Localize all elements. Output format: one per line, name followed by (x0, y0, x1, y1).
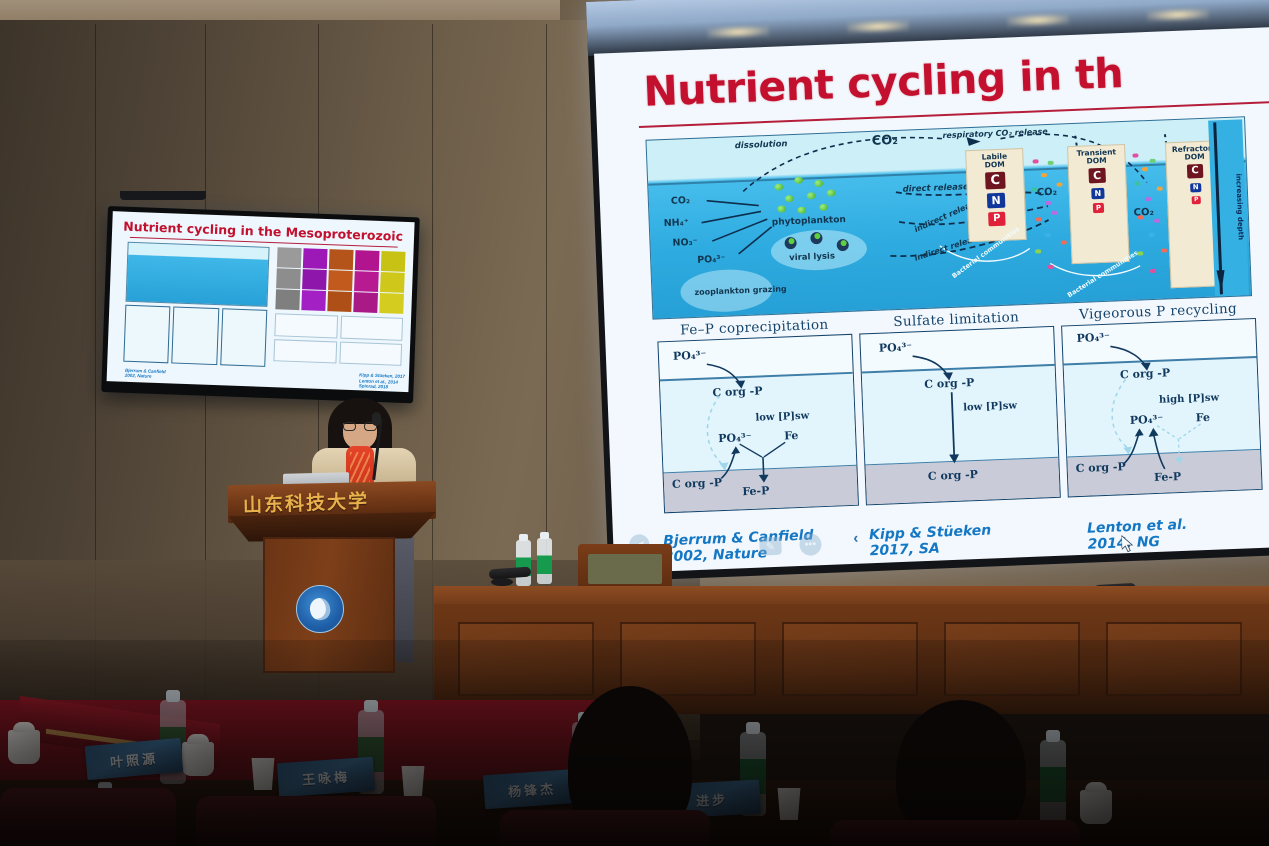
scenario-panels: Fe–P coprecipitation (631, 300, 1269, 525)
p2-corgp-top: C org -P (924, 376, 975, 391)
panel-box-2: PO₄³⁻ C org -P low [P]sw C org -P (859, 326, 1061, 506)
table-water-bottle (537, 538, 552, 584)
panel-fe-p-coprecipitation: Fe–P coprecipitation (657, 316, 859, 514)
pen-tool-button[interactable]: ✎ (759, 537, 782, 556)
p1-corgp-top: C org -P (712, 384, 763, 399)
slide-surface: Nutrient cycling in th (594, 27, 1269, 573)
monitor-ocean-diagram (126, 242, 270, 307)
dom-element-n-transient: N (1091, 188, 1104, 200)
slide-nav-chevron[interactable]: ‹ (853, 530, 859, 547)
p1-low-p: low [P]sw (755, 411, 809, 424)
p3-corgp-sed: C org -P (1075, 460, 1126, 475)
foreground-teacup (182, 742, 214, 776)
conference-room-photo: Nutrient cycling in th (0, 0, 1269, 846)
panel-sulfate-limitation: Sulfate limitation PO₄³⁻ C org -P low [P… (859, 308, 1061, 506)
dom-label-labile: Labile DOM (966, 152, 1023, 171)
p3-fe: Fe (1196, 411, 1211, 425)
label-dissolution: dissolution (735, 139, 788, 151)
p1-fe: Fe (784, 429, 799, 443)
p3-po4-mid: PO₄³⁻ (1130, 413, 1164, 427)
nameplate-wang-yongmei: 王咏梅 (277, 757, 375, 798)
table-panel (782, 622, 918, 696)
table-panel (458, 622, 594, 696)
monitor-screen: Nutrient cycling in the Mesoproterozoic … (107, 211, 415, 392)
label-no3-input: NO₃⁻ (672, 237, 698, 249)
label-co2-mid-1: CO₂ (1037, 187, 1058, 199)
nameplate-label: 进步 (696, 789, 729, 810)
p3-high-p: high [P]sw (1159, 392, 1219, 405)
citation-1: Bjerrum & Canfield 2002, Nature (663, 527, 814, 565)
panel-box-1: PO₄³⁻ C org -P low [P]sw PO₄³⁻ Fe C org … (657, 334, 859, 514)
mouse-cursor (1121, 535, 1134, 553)
dom-column-transient: Transient DOM x C N P (1067, 144, 1130, 264)
label-co2-surface: CO₂ (871, 133, 898, 149)
stage-chair (578, 544, 672, 592)
dom-element-p-refractory: P (1192, 196, 1201, 204)
p2-corgp-sed: C org -P (928, 468, 979, 483)
p1-po4-top: PO₄³⁻ (673, 349, 707, 363)
p3-corgp-top: C org -P (1120, 366, 1171, 381)
audience-chair (0, 788, 176, 846)
citation-2: Kipp & Stüeken 2017, SA (869, 523, 992, 560)
dom-label-transient: Transient DOM (1068, 148, 1125, 167)
table-microphone-base (491, 578, 513, 586)
dom-element-n-refractory: N (1190, 183, 1201, 192)
label-viral-lysis: viral lysis (789, 251, 835, 263)
monitor-citation-left: Bjerrum & Canfield 2002, Nature (125, 367, 166, 380)
p3-po4-top: PO₄³⁻ (1076, 331, 1110, 345)
p1-fep: Fe-P (742, 484, 770, 498)
nameplate-label: 叶照源 (109, 747, 158, 770)
foreground-paper-cup (400, 766, 426, 798)
projection-screen: Nutrient cycling in th (586, 0, 1269, 582)
foreground-teacup (1080, 790, 1112, 824)
table-panel (620, 622, 756, 696)
monitor-slide-title: Nutrient cycling in the Mesoproterozoic (112, 218, 414, 244)
dom-element-c-refractory: C (1187, 164, 1204, 179)
dom-element-c-transient: C (1088, 168, 1106, 184)
table-panel (944, 622, 1080, 696)
nameplate-yang-fengjie: 杨锋杰 (483, 769, 581, 810)
monitor-data-plots (273, 313, 403, 366)
dom-element-p-labile: P (988, 212, 1006, 227)
audience-chair (500, 810, 710, 846)
p2-low-p: low [P]sw (963, 400, 1017, 413)
ocean-diagram: dissolution CO₂ respiratory CO₂ release … (645, 116, 1252, 319)
p3-fep: Fe-P (1154, 470, 1182, 484)
audience-chair (830, 820, 1080, 846)
foreground-water-bottle (1040, 740, 1066, 824)
dom-element-p-transient: P (1093, 203, 1104, 213)
p2-po4-top: PO₄³⁻ (879, 340, 913, 354)
stage-table-body (434, 604, 1269, 714)
audience-chair (196, 796, 436, 846)
label-po4-input: PO₄³⁻ (697, 254, 726, 266)
nameplate-label: 杨锋杰 (507, 778, 556, 800)
p1-corgp-sed: C org -P (672, 476, 723, 491)
panel-box-3: PO₄³⁻ C org -P high [P]sw PO₄³⁻ Fe C org… (1061, 318, 1263, 498)
university-emblem-icon (296, 585, 344, 633)
label-co2-input: CO₂ (671, 195, 691, 207)
table-panel (1106, 622, 1242, 696)
nameplate-label: 王咏梅 (301, 766, 350, 788)
podium-side-panel (392, 521, 414, 663)
wall-monitor: Nutrient cycling in the Mesoproterozoic … (101, 206, 420, 403)
monitor-stand (120, 191, 206, 200)
monitor-microscopy-grid (275, 247, 405, 314)
monitor-scenario-panels (123, 305, 267, 367)
label-nh4-input: NH₄⁺ (664, 217, 689, 229)
citation-3: Lenton et al. 2014, NG (1087, 517, 1188, 553)
dom-element-c-labile: C (985, 172, 1006, 190)
panel-vigorous-p-recycling: Vigeorous P recycling (1060, 300, 1262, 498)
foreground-paper-cup (776, 788, 802, 820)
podium-mic-head (372, 412, 381, 426)
more-options-button[interactable]: ••• (799, 533, 822, 556)
slide-title: Nutrient cycling in th (643, 49, 1124, 116)
table-water-bottle (516, 540, 531, 586)
dom-element-n-labile: N (987, 193, 1006, 209)
depth-axis: increasing depth (1208, 119, 1249, 296)
foreground-teacup (8, 730, 40, 764)
monitor-citation-right: Kipp & Stüeken, 2017 Lenton et al., 2014… (359, 372, 405, 391)
foreground-paper-cup (250, 758, 276, 790)
p1-po4-mid: PO₄³⁻ (718, 431, 752, 445)
